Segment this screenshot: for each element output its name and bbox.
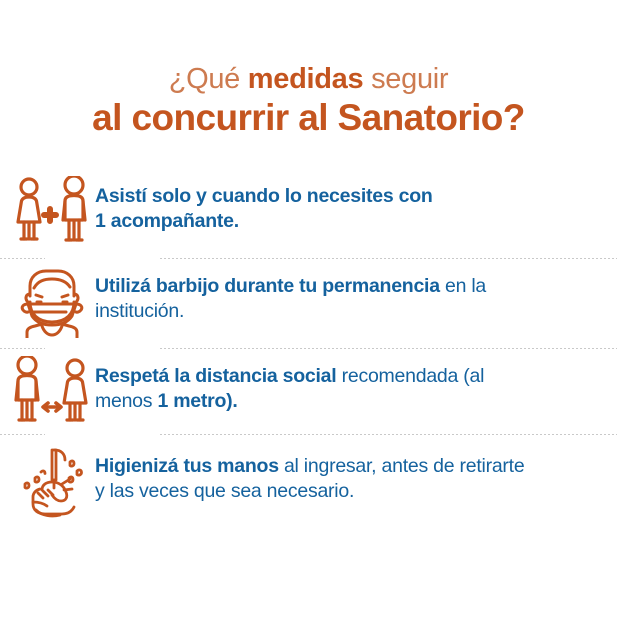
measure-item-distance: Respetá la distancia social recomendada … <box>0 356 617 446</box>
page-title-line1-strong: medidas <box>248 63 364 95</box>
measure-item-mask-text-bold: Utilizá barbijo durante tu permanencia <box>95 275 440 297</box>
page-title: ¿Qué medidas seguir al concurrir al Sana… <box>0 0 617 139</box>
measure-item-distance-text: Respetá la distancia social recomendada … <box>95 356 525 414</box>
hand-washing-icon <box>0 446 95 518</box>
page-title-line-2: al concurrir al Sanatorio? <box>0 97 617 139</box>
page-title-line1-pre: ¿Qué <box>169 63 248 95</box>
page-title-line-1: ¿Qué medidas seguir <box>0 62 617 96</box>
measure-item-distance-text-bold-1: Respetá la distancia social <box>95 365 336 387</box>
measure-item-handwashing-text-bold: Higienizá tus manos <box>95 455 279 477</box>
measure-item-companion: Asistí solo y cuando lo necesites con 1 … <box>0 176 617 266</box>
measure-item-companion-text-line2: 1 acompañante. <box>95 210 239 232</box>
measure-item-distance-text-bold-2: 1 metro). <box>157 390 237 412</box>
face-mask-icon <box>0 266 95 338</box>
two-people-plus-icon <box>0 176 95 248</box>
social-distance-icon <box>0 356 95 428</box>
measure-item-mask-text: Utilizá barbijo durante tu permanencia e… <box>95 266 525 324</box>
measure-item-mask: Utilizá barbijo durante tu permanencia e… <box>0 266 617 356</box>
measure-item-handwashing-text: Higienizá tus manos al ingresar, antes d… <box>95 446 525 504</box>
measure-item-companion-text-line1: Asistí solo y cuando lo necesites con <box>95 185 433 207</box>
measure-item-companion-text: Asistí solo y cuando lo necesites con 1 … <box>95 176 433 234</box>
page-title-line1-post: seguir <box>363 63 448 95</box>
measure-item-handwashing: Higienizá tus manos al ingresar, antes d… <box>0 446 617 536</box>
measures-list: Asistí solo y cuando lo necesites con 1 … <box>0 176 617 536</box>
